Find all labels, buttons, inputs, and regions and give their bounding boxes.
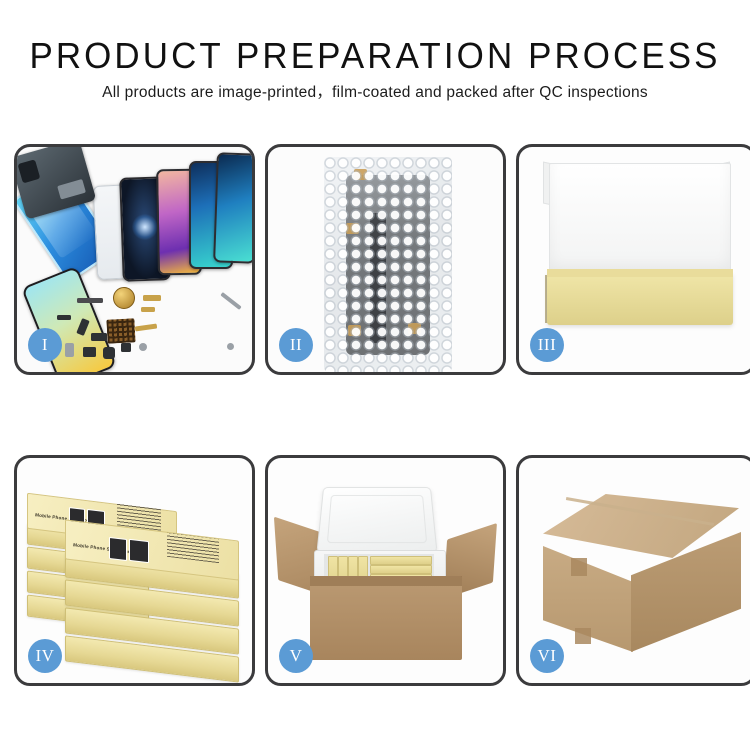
sim-card-part — [65, 343, 74, 357]
packed-box-flat-2 — [370, 565, 432, 574]
speaker-module-icon — [113, 287, 135, 309]
bubble-wrap-texture — [324, 157, 452, 372]
carton-top-edge — [310, 576, 462, 586]
carton-body-image — [310, 576, 462, 660]
box-window-front-2 — [129, 539, 149, 563]
step-panel-3: III — [516, 144, 750, 375]
step-badge-4: IV — [28, 639, 62, 673]
step-badge-6: VI — [530, 639, 564, 673]
page-header: PRODUCT PREPARATION PROCESS All products… — [0, 0, 750, 101]
step-badge-1: I — [28, 328, 62, 362]
page-subtitle: All products are image-printed，film-coat… — [0, 85, 750, 101]
carton-handle-tab-lower — [575, 628, 591, 644]
step-panel-6: VI — [516, 455, 750, 686]
vibration-motor-part — [83, 347, 96, 357]
step-badge-2: II — [279, 328, 313, 362]
phone-display-teal2-image — [213, 152, 252, 263]
step-panel-2: II — [265, 144, 506, 375]
box-window-front-1 — [109, 537, 127, 561]
step-badge-3: III — [530, 328, 564, 362]
page-title: PRODUCT PREPARATION PROCESS — [11, 38, 739, 74]
sim-tray-part — [91, 333, 107, 341]
step-panel-1: I — [14, 144, 255, 375]
bubble-wrap-bag-image — [324, 157, 452, 372]
earpiece-part — [121, 343, 131, 352]
yellow-tray-image — [547, 273, 733, 325]
antenna-flex-part — [135, 323, 157, 331]
flex-cable-part — [77, 298, 103, 303]
step-badge-5: V — [279, 639, 313, 673]
step-panel-4: Mobile Phone Spare Parts Mobile Phone Sp… — [14, 455, 255, 686]
packed-box-flat-1 — [370, 556, 432, 565]
gold-bracket-part — [141, 307, 155, 312]
white-box-lid-image — [549, 163, 731, 275]
yellow-tray-lip — [547, 269, 733, 277]
step-panel-5: V — [265, 455, 506, 686]
styrofoam-lid-image — [316, 487, 437, 553]
screw-part — [139, 343, 147, 351]
bracket-part — [57, 315, 71, 320]
screwdriver-tool-part — [220, 292, 241, 310]
camera-module-part — [103, 347, 115, 359]
carton-handle-tab-upper — [571, 558, 587, 576]
logic-board-chip-icon — [106, 318, 135, 343]
process-steps-grid: I II III — [14, 144, 750, 686]
small-screw-part — [227, 343, 234, 350]
gold-connector-part — [143, 295, 161, 301]
